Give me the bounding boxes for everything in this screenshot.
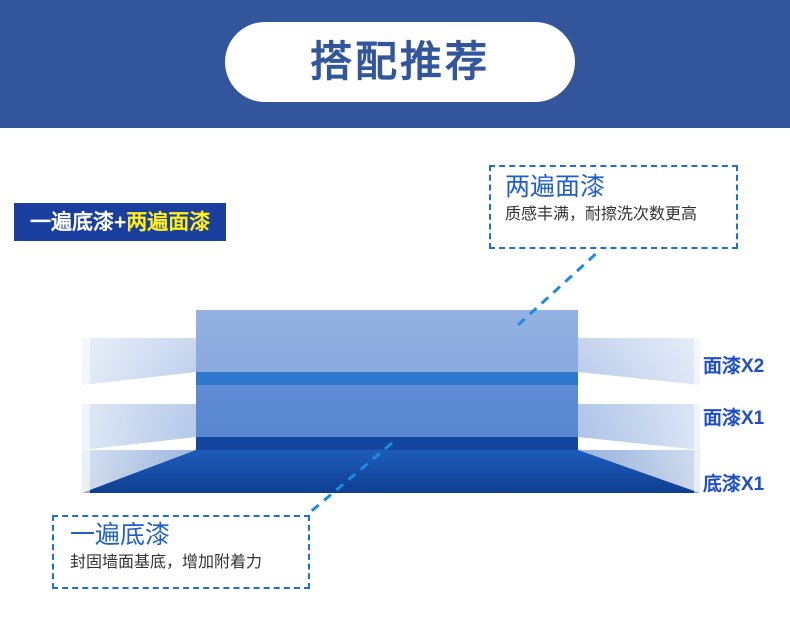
- layer-label-topcoat-x2: 面漆X2: [703, 357, 764, 376]
- badge-topcoat-text: 两遍面漆: [126, 212, 210, 233]
- callout-topcoat-subtitle: 质感丰满，耐擦洗次数更高: [505, 206, 726, 224]
- callout-topcoat-title: 两遍面漆: [505, 174, 726, 202]
- layer-topcoat-1: [82, 372, 700, 450]
- callout-primer-title: 一遍底漆: [70, 522, 298, 550]
- page-root: 搭配推荐: [0, 0, 790, 630]
- layer-label-topcoat-x1: 面漆X1: [703, 409, 764, 428]
- badge-primer-text: 一遍底漆+: [30, 212, 126, 233]
- callout-primer-subtitle: 封固墙面基底，增加附着力: [70, 554, 298, 572]
- combination-badge: 一遍底漆+两遍面漆: [14, 203, 226, 241]
- callout-topcoat: 两遍面漆 质感丰满，耐擦洗次数更高: [489, 165, 738, 249]
- callout-primer: 一遍底漆 封固墙面基底，增加附着力: [52, 515, 310, 589]
- layer-label-primer-x1: 底漆X1: [703, 475, 764, 494]
